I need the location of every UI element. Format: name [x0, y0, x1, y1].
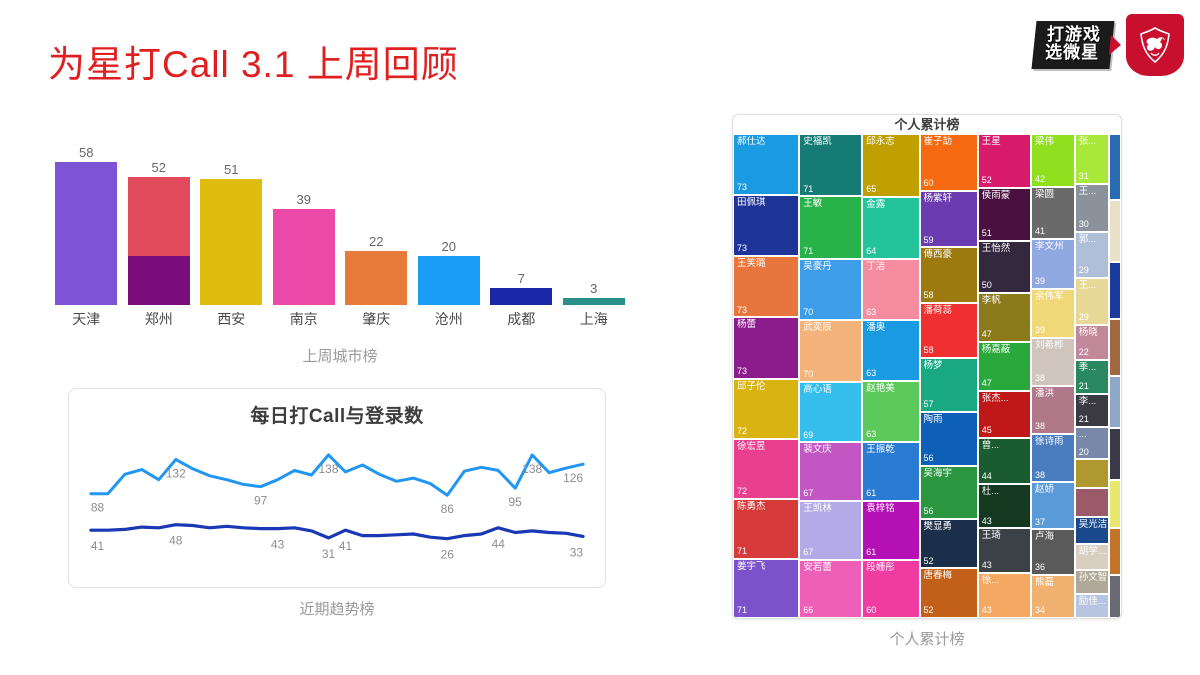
treemap-tile-name: 傅西豪 — [924, 249, 953, 261]
treemap-tile-value: 45 — [982, 425, 992, 436]
bar-segment-bottom — [128, 256, 190, 305]
treemap-tile-name: 杨紫轩 — [924, 193, 953, 205]
treemap-tile-name: 杨嘉蔽 — [982, 344, 1011, 356]
line-point-label: 138 — [319, 462, 339, 476]
treemap-tile[interactable]: 傅西豪58 — [920, 247, 978, 302]
treemap-tile-name: 王琦 — [982, 530, 1001, 542]
city-bar-chart: 58525139222073 天津郑州西安南京肇庆沧州成都上海 上周城市榜 — [50, 130, 630, 360]
daily-trend-line-chart: 每日打Call与登录数 8813297138869513812641484331… — [68, 388, 606, 588]
treemap-tile[interactable]: 王怡然50 — [978, 241, 1031, 293]
bar-column: 39 — [273, 193, 335, 305]
treemap-title: 个人累计榜 — [733, 115, 1121, 134]
line-point-label: 88 — [91, 501, 105, 515]
bar-category-label: 西安 — [191, 309, 271, 329]
bar-value-label: 39 — [297, 193, 311, 206]
treemap-tile[interactable] — [1109, 480, 1121, 527]
bar-value-label: 51 — [224, 163, 238, 176]
treemap-tile-value: 57 — [924, 399, 934, 410]
treemap-tile[interactable]: 胡学... — [1075, 544, 1110, 570]
treemap-tile-name: 徐... — [982, 575, 999, 587]
treemap-tile[interactable]: 李帆47 — [978, 293, 1031, 342]
treemap-tile-name: 丁洁 — [866, 261, 885, 273]
treemap-tile[interactable]: 高心语69 — [799, 382, 862, 443]
treemap-tile-name: 陶雨 — [924, 414, 943, 426]
treemap-tile-name: 王怡然 — [982, 243, 1011, 255]
line-chart-caption: 近期趋势榜 — [68, 598, 606, 619]
bar-column: 7 — [490, 272, 552, 305]
treemap-tile-value: 70 — [803, 307, 813, 318]
treemap-tile-name: 曾... — [982, 440, 999, 452]
treemap-tile-name: 徐宏昱 — [737, 441, 766, 453]
treemap-tile-value: 29 — [1079, 312, 1089, 323]
treemap-tile-name: 王星 — [982, 136, 1001, 148]
line-point-label: 31 — [322, 547, 336, 561]
treemap-tile-value: 63 — [866, 368, 876, 379]
treemap-tile-value: 56 — [924, 453, 934, 464]
treemap-tile[interactable]: 孙文智 — [1075, 570, 1110, 594]
treemap-tile-name: 安若蕾 — [803, 562, 832, 574]
treemap-tile-value: 50 — [982, 280, 992, 291]
treemap-tile[interactable] — [1109, 319, 1121, 376]
treemap-tile-name: 李... — [1079, 396, 1096, 408]
treemap-tile-name: 杨梦 — [924, 360, 943, 372]
bar-category-label: 郑州 — [119, 309, 199, 329]
treemap-tile[interactable]: 王星52 — [978, 134, 1031, 188]
line-plot-area: 881329713886951381264148433141264433 — [69, 428, 605, 578]
treemap-tile-value: 61 — [866, 547, 876, 558]
bar-segment — [345, 251, 407, 305]
treemap-tile[interactable]: 余伟军39 — [1031, 289, 1075, 338]
treemap-tile[interactable]: 杨嘉蔽47 — [978, 342, 1031, 391]
treemap-tile[interactable]: 潘奥63 — [862, 320, 919, 381]
treemap-tile-name: 史福凯 — [803, 136, 832, 148]
bar-segment — [490, 288, 552, 305]
treemap-tile-name: 唐春梅 — [924, 570, 953, 582]
treemap-tile[interactable]: 熊磊34 — [1031, 575, 1075, 618]
treemap-tile[interactable]: 袁梓铭61 — [862, 501, 919, 560]
treemap-tile-name: 袁梓铭 — [866, 503, 895, 515]
treemap-tile[interactable]: 郝仕达73 — [733, 134, 799, 195]
bar-column: 3 — [563, 282, 625, 305]
treemap-tile[interactable]: 杨蕾73 — [733, 317, 799, 378]
line-point-label: 95 — [509, 495, 523, 509]
treemap-tile-name: 王笑璐 — [737, 258, 766, 270]
treemap-tile-value: 20 — [1079, 447, 1089, 458]
treemap-tile-name: 郝仕达 — [737, 136, 766, 148]
treemap-tile-name: 田佩琪 — [737, 197, 766, 209]
treemap-tile-name: 季... — [1079, 362, 1096, 374]
line-point-label: 132 — [166, 466, 186, 480]
treemap-tile-name: 高心语 — [803, 384, 832, 396]
treemap-tile-value: 60 — [924, 178, 934, 189]
line-point-label: 33 — [570, 545, 584, 559]
treemap-tile[interactable]: 裴文庆67 — [799, 442, 862, 501]
treemap-tile[interactable]: 田佩琪73 — [733, 195, 799, 256]
treemap-tile-value: 36 — [1035, 562, 1045, 573]
treemap-tile[interactable] — [1109, 134, 1121, 200]
treemap-tile-name: 赵艳美 — [866, 383, 895, 395]
treemap-tile[interactable]: 王振乾61 — [862, 442, 919, 501]
treemap-tile[interactable]: 杨梦57 — [920, 358, 978, 412]
treemap-tile-value: 21 — [1079, 381, 1089, 392]
treemap-tile[interactable]: 邱永志65 — [862, 134, 919, 197]
bar-column: 22 — [345, 235, 407, 305]
treemap-tile-value: 44 — [982, 471, 992, 482]
bar-column: 58 — [55, 146, 117, 305]
treemap-tile-name: 吴豪丹 — [803, 261, 832, 273]
treemap-tile[interactable]: 武奕辰70 — [799, 320, 862, 381]
treemap-tile-name: 樊显勇 — [924, 521, 953, 533]
treemap-tile-value: 22 — [1079, 347, 1089, 358]
line-point-label: 41 — [339, 539, 353, 553]
treemap-tile[interactable]: 赵娇37 — [1031, 482, 1075, 529]
treemap-tile-value: 37 — [1035, 517, 1045, 528]
treemap-tile-value: 63 — [866, 429, 876, 440]
treemap-tile-name: 梁伟 — [1035, 136, 1054, 148]
slogan-badge: 打游戏 选微星 — [1031, 21, 1114, 69]
line-point-label: 41 — [91, 539, 105, 553]
bar-segment-top — [128, 177, 190, 256]
treemap-tile-value: 39 — [1035, 325, 1045, 336]
treemap-tile[interactable]: 张杰...45 — [978, 391, 1031, 438]
treemap-tile-name: 余伟军 — [1035, 291, 1064, 303]
treemap-tile[interactable]: 杜...43 — [978, 484, 1031, 529]
treemap-tile-name: 杨蕾 — [737, 319, 756, 331]
page-title: 为星打Call 3.1 上周回顾 — [48, 34, 459, 88]
treemap-tile[interactable] — [1109, 575, 1121, 618]
treemap-tile-value: 71 — [803, 184, 813, 195]
bar-segment — [55, 162, 117, 305]
bar-segment — [418, 256, 480, 305]
treemap-tile[interactable]: 唐春梅52 — [920, 568, 978, 618]
treemap-tile-value: 47 — [982, 378, 992, 389]
treemap-tile[interactable]: 王凯林67 — [799, 501, 862, 560]
treemap-tile[interactable]: 王...30 — [1075, 184, 1110, 232]
treemap-tile[interactable]: 曾...44 — [978, 438, 1031, 484]
treemap-tile[interactable]: 吴豪丹70 — [799, 259, 862, 320]
bar-category-label: 成都 — [481, 309, 561, 329]
treemap-tile[interactable]: 郭...29 — [1075, 232, 1110, 278]
treemap-tile[interactable]: 吴光洁 — [1075, 517, 1110, 544]
line-point-label: 43 — [271, 538, 285, 552]
treemap-tile-value: 65 — [866, 184, 876, 195]
treemap-tile[interactable]: 张...31 — [1075, 134, 1110, 184]
treemap-tile[interactable]: 潘荷蕊58 — [920, 303, 978, 358]
treemap-tile-value: 42 — [1035, 174, 1045, 185]
treemap-tile-name: 王... — [1079, 280, 1096, 292]
treemap-tile-name: 熊磊 — [1035, 577, 1054, 589]
treemap-tile-name: 吴光洁 — [1079, 519, 1108, 531]
treemap-tile-name: 赵娇 — [1035, 484, 1054, 496]
treemap-plot-area: 郝仕达73田佩琪73王笑璐73杨蕾73邱子伦72徐宏昱72陈勇杰71姜宇飞71史… — [733, 134, 1121, 618]
bar-category-label: 肇庆 — [336, 309, 416, 329]
treemap-tile-name: 李帆 — [982, 295, 1001, 307]
treemap-tile-value: 30 — [1079, 219, 1089, 230]
treemap-tile[interactable]: 段姗彤60 — [862, 560, 919, 618]
treemap-tile-value: 59 — [924, 235, 934, 246]
msi-dragon-shield-icon — [1126, 14, 1184, 76]
treemap-tile-name: 郭... — [1079, 234, 1096, 246]
treemap-tile-name: 杨晓 — [1079, 327, 1098, 339]
treemap-tile-value: 38 — [1035, 373, 1045, 384]
treemap-tile-name: 胡学... — [1079, 546, 1106, 558]
treemap-tile-value: 31 — [1079, 171, 1089, 182]
treemap-tile-value: 43 — [982, 605, 992, 616]
treemap-tile-value: 39 — [1035, 276, 1045, 287]
treemap-tile[interactable] — [1109, 376, 1121, 428]
treemap-tile-name: 王... — [1079, 186, 1096, 198]
treemap-tile-name: 王振乾 — [866, 444, 895, 456]
treemap-tile-name: 邱子伦 — [737, 381, 766, 393]
treemap-tile[interactable]: 吴海宇56 — [920, 466, 978, 519]
bar-value-label: 3 — [590, 282, 597, 295]
treemap-tile[interactable]: 赵艳美63 — [862, 381, 919, 442]
treemap-tile-name: 刘希桦 — [1035, 340, 1064, 352]
treemap-tile-value: 34 — [1035, 605, 1045, 616]
slogan-line-1: 打游戏 — [1047, 26, 1101, 44]
treemap-tile-value: 70 — [803, 369, 813, 380]
bar-value-label: 52 — [152, 161, 166, 174]
treemap-tile[interactable]: 杨晓22 — [1075, 325, 1110, 360]
bar-category-labels: 天津郑州西安南京肇庆沧州成都上海 — [50, 309, 630, 335]
treemap-caption: 个人累计榜 — [732, 628, 1122, 649]
treemap-tile-value: 56 — [924, 506, 934, 517]
bar-column: 20 — [418, 240, 480, 305]
treemap-tile-name: 金露 — [866, 199, 885, 211]
treemap-tile[interactable]: 杨紫轩59 — [920, 191, 978, 247]
treemap-tile-name: ... — [1079, 429, 1087, 441]
treemap-tile-value: 52 — [924, 556, 934, 567]
treemap-tile[interactable]: 李文州39 — [1031, 239, 1075, 288]
line-point-label: 26 — [441, 548, 455, 562]
treemap-tile-value: 21 — [1079, 414, 1089, 425]
treemap-tile-value: 58 — [924, 290, 934, 301]
line-point-label: 48 — [169, 534, 183, 548]
treemap-tile[interactable]: ...20 — [1075, 427, 1110, 459]
treemap-tile[interactable]: 潘洪38 — [1031, 386, 1075, 434]
treemap-tile-name: 徐诗雨 — [1035, 436, 1064, 448]
line-point-label: 97 — [254, 494, 268, 508]
bar-category-label: 南京 — [264, 309, 344, 329]
line-chart-title: 每日打Call与登录数 — [69, 389, 605, 428]
treemap-tile-value: 69 — [803, 430, 813, 441]
treemap-tile-name: 姜宇飞 — [737, 561, 766, 573]
treemap-tile[interactable]: 梁伟42 — [1031, 134, 1075, 187]
treemap-tile-name: 潘荷蕊 — [924, 305, 953, 317]
line-point-label: 138 — [522, 462, 542, 476]
bar-segment — [200, 179, 262, 305]
treemap-tile[interactable]: 梁圆41 — [1031, 187, 1075, 239]
bar-value-label: 22 — [369, 235, 383, 248]
line-series-path — [91, 525, 583, 539]
brand-logo: 打游戏 选微星 — [1034, 14, 1184, 76]
treemap-tile[interactable] — [1109, 262, 1121, 319]
treemap-tile-value: 51 — [982, 228, 992, 239]
treemap-tile-value: 73 — [737, 366, 747, 377]
treemap-tile-name: 裴文庆 — [803, 444, 832, 456]
treemap-tile[interactable]: 励佳... — [1075, 594, 1110, 618]
treemap-tile-value: 43 — [982, 560, 992, 571]
bar-segment — [563, 298, 625, 305]
treemap-tile[interactable]: 刘希桦38 — [1031, 338, 1075, 386]
treemap-tile[interactable]: 徐...43 — [978, 573, 1031, 618]
treemap-tile-value: 71 — [737, 546, 747, 557]
treemap-tile-name: 王敏 — [803, 198, 822, 210]
treemap-tile-value: 38 — [1035, 470, 1045, 481]
treemap-tile-name: 王凯林 — [803, 503, 832, 515]
treemap-tile[interactable]: 徐诗雨38 — [1031, 434, 1075, 482]
treemap-tile-value: 72 — [737, 426, 747, 437]
treemap-tile-value: 60 — [866, 605, 876, 616]
treemap-tile-value: 63 — [866, 307, 876, 318]
treemap-tile-name: 邱永志 — [866, 136, 895, 148]
treemap-tile[interactable]: 李...21 — [1075, 394, 1110, 428]
treemap-tile-value: 66 — [803, 605, 813, 616]
treemap-tile-name: 梁圆 — [1035, 189, 1054, 201]
treemap-tile[interactable]: 金露64 — [862, 197, 919, 259]
treemap-tile[interactable]: 侯雨蒙51 — [978, 188, 1031, 241]
treemap-tile-name: 侯雨蒙 — [982, 190, 1011, 202]
bar-plot-area: 58525139222073 — [50, 130, 630, 305]
line-point-label: 126 — [563, 471, 583, 485]
treemap-tile-name: 潘奥 — [866, 322, 885, 334]
bar-value-label: 7 — [518, 272, 525, 285]
treemap-tile-value: 41 — [1035, 226, 1045, 237]
treemap-tile[interactable]: 季...21 — [1075, 360, 1110, 394]
treemap-tile-value: 67 — [803, 488, 813, 499]
treemap-tile[interactable] — [1109, 200, 1121, 262]
treemap-tile-name: 励佳... — [1079, 596, 1106, 608]
line-point-label: 44 — [492, 537, 506, 551]
bar-column: 51 — [200, 163, 262, 305]
treemap-tile[interactable] — [1109, 528, 1121, 575]
treemap-tile-value: 73 — [737, 243, 747, 254]
treemap-tile-name: 段姗彤 — [866, 562, 895, 574]
treemap-tile-value: 58 — [924, 345, 934, 356]
treemap-tile-name: 武奕辰 — [803, 322, 832, 334]
treemap-tile-value: 38 — [1035, 421, 1045, 432]
treemap-tile-value: 71 — [737, 605, 747, 616]
treemap-tile-value: 67 — [803, 547, 813, 558]
treemap-tile[interactable]: 安若蕾66 — [799, 560, 862, 618]
treemap-tile[interactable] — [1075, 488, 1110, 517]
treemap-tile-name: 杜... — [982, 486, 999, 498]
treemap-tile-name: 卢海 — [1035, 531, 1054, 543]
treemap-tile-value: 52 — [982, 175, 992, 186]
treemap-tile-name: 孙文智 — [1079, 572, 1108, 584]
treemap-tile-value: 73 — [737, 305, 747, 316]
treemap-tile[interactable] — [1109, 428, 1121, 480]
treemap-tile[interactable]: 陈勇杰71 — [733, 499, 799, 558]
treemap-tile-name: 李文州 — [1035, 241, 1064, 253]
treemap-tile-name: 潘洪 — [1035, 388, 1054, 400]
treemap-tile-name: 陈勇杰 — [737, 501, 766, 513]
personal-cumulative-treemap: 个人累计榜 郝仕达73田佩琪73王笑璐73杨蕾73邱子伦72徐宏昱72陈勇杰71… — [732, 114, 1122, 619]
treemap-tile[interactable]: 徐宏昱72 — [733, 439, 799, 499]
treemap-tile[interactable]: 史福凯71 — [799, 134, 862, 196]
treemap-tile[interactable]: 樊显勇52 — [920, 519, 978, 569]
bar-value-label: 20 — [442, 240, 456, 253]
treemap-tile[interactable]: 卢海36 — [1031, 529, 1075, 575]
treemap-tile[interactable]: 陶雨56 — [920, 412, 978, 465]
treemap-tile[interactable]: 邱子伦72 — [733, 379, 799, 439]
treemap-tile[interactable]: 姜宇飞71 — [733, 559, 799, 618]
bar-category-label: 上海 — [554, 309, 634, 329]
treemap-tile-value: 52 — [924, 605, 934, 616]
treemap-tile[interactable]: 丁洁63 — [862, 259, 919, 320]
treemap-tile[interactable]: 王琦43 — [978, 528, 1031, 573]
bar-category-label: 天津 — [46, 309, 126, 329]
treemap-tile-value: 61 — [866, 488, 876, 499]
treemap-tile-value: 29 — [1079, 265, 1089, 276]
treemap-tile-name: 吴海宇 — [924, 468, 953, 480]
slogan-line-2: 选微星 — [1045, 45, 1099, 63]
treemap-tile-value: 47 — [982, 329, 992, 340]
treemap-tile-value: 72 — [737, 486, 747, 497]
treemap-tile-name: 崔子劼 — [924, 136, 953, 148]
treemap-tile[interactable]: 王...29 — [1075, 278, 1110, 324]
treemap-tile[interactable] — [1075, 459, 1110, 488]
treemap-tile-name: 张... — [1079, 136, 1096, 148]
treemap-tile[interactable]: 王笑璐73 — [733, 256, 799, 317]
bar-segment — [273, 209, 335, 305]
treemap-tile-value: 73 — [737, 182, 747, 193]
bar-category-label: 沧州 — [409, 309, 489, 329]
treemap-tile-name: 张杰... — [982, 393, 1009, 405]
bar-chart-caption: 上周城市榜 — [50, 345, 630, 366]
treemap-tile[interactable]: 王敏71 — [799, 196, 862, 258]
treemap-tile-value: 64 — [866, 246, 876, 257]
treemap-tile[interactable]: 崔子劼60 — [920, 134, 978, 191]
treemap-tile-value: 43 — [982, 516, 992, 527]
line-point-label: 86 — [441, 502, 455, 516]
bar-value-label: 58 — [79, 146, 93, 159]
treemap-tile-value: 71 — [803, 246, 813, 257]
bar-column: 52 — [128, 161, 190, 305]
